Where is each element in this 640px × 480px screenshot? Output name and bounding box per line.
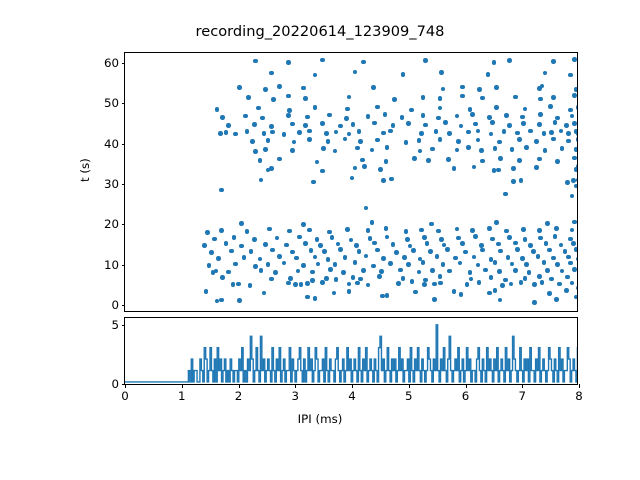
scatter-point — [321, 146, 326, 151]
scatter-point — [259, 268, 264, 273]
scatter-point — [269, 71, 274, 76]
scatter-point — [344, 116, 349, 121]
scatter-point — [301, 222, 306, 227]
scatter-point — [455, 227, 460, 232]
scatter-point — [423, 278, 428, 283]
scatter-point — [389, 177, 394, 182]
scatter-point — [425, 241, 430, 246]
scatter-point — [392, 97, 397, 102]
scatter-point — [383, 112, 388, 117]
scatter-point — [460, 94, 465, 99]
scatter-point — [492, 60, 497, 65]
scatter-point — [375, 138, 380, 143]
scatter-point — [422, 282, 427, 287]
scatter-point — [511, 179, 516, 184]
scatter-point — [497, 269, 502, 274]
scatter-point — [472, 255, 477, 260]
scatter-point — [232, 235, 237, 240]
scatter-point — [277, 157, 282, 162]
scatter-point — [315, 160, 320, 165]
scatter-point — [447, 131, 452, 136]
scatter-y-tick — [122, 265, 126, 266]
scatter-point — [362, 164, 367, 169]
scatter-point — [417, 138, 422, 143]
scatter-point — [555, 262, 560, 267]
scatter-point — [555, 116, 560, 121]
scatter-point — [231, 282, 236, 287]
scatter-point — [494, 220, 499, 225]
scatter-point — [489, 132, 494, 137]
scatter-point — [336, 242, 341, 247]
figure-title: recording_20220614_123909_748 — [0, 23, 640, 40]
scatter-point — [379, 269, 384, 274]
scatter-point — [479, 148, 484, 153]
scatter-point — [402, 255, 407, 260]
scatter-point — [490, 237, 495, 242]
scatter-point — [396, 281, 401, 286]
scatter-point — [459, 292, 464, 297]
scatter-point — [370, 220, 375, 225]
scatter-point — [269, 277, 274, 282]
scatter-point — [503, 192, 508, 197]
scatter-point — [316, 262, 321, 267]
histogram-x-tick — [522, 384, 523, 388]
scatter-point — [565, 180, 570, 185]
scatter-point — [353, 166, 358, 171]
scatter-point — [358, 139, 363, 144]
scatter-point — [459, 124, 464, 129]
scatter-point — [334, 277, 339, 282]
scatter-point — [572, 267, 577, 272]
scatter-point — [568, 108, 573, 113]
scatter-point — [576, 137, 577, 142]
scatter-y-tick — [122, 305, 126, 306]
scatter-point — [307, 228, 312, 233]
scatter-point — [571, 178, 576, 183]
histogram-x-tick-label: 0 — [121, 389, 129, 403]
scatter-point — [500, 283, 505, 288]
scatter-point — [293, 282, 298, 287]
scatter-point — [347, 95, 352, 100]
scatter-point — [470, 112, 475, 117]
scatter-point — [422, 235, 427, 240]
scatter-point — [534, 165, 539, 170]
scatter-point — [286, 60, 291, 65]
scatter-point — [536, 254, 541, 259]
scatter-point — [493, 288, 498, 293]
scatter-point — [385, 145, 390, 150]
scatter-point — [568, 237, 573, 242]
scatter-point — [385, 293, 390, 298]
scatter-point — [476, 263, 481, 268]
scatter-point — [294, 256, 299, 261]
scatter-point — [419, 131, 424, 136]
scatter-point — [438, 106, 443, 111]
scatter-point — [320, 121, 325, 126]
scatter-point — [487, 115, 492, 120]
scatter-point — [540, 280, 545, 285]
histogram-y-tick-label: 0 — [111, 377, 119, 391]
scatter-point — [559, 129, 564, 134]
scatter-point — [266, 262, 271, 267]
scatter-point — [219, 188, 224, 193]
scatter-point — [366, 283, 371, 288]
scatter-point — [456, 139, 461, 144]
scatter-point — [480, 159, 485, 164]
scatter-point — [460, 241, 465, 246]
scatter-point — [260, 116, 265, 121]
scatter-point — [286, 113, 291, 118]
scatter-point — [549, 130, 554, 135]
scatter-point — [361, 268, 366, 273]
scatter-point — [498, 249, 503, 254]
scatter-point — [560, 269, 565, 274]
scatter-point — [456, 236, 461, 241]
scatter-point — [343, 255, 348, 260]
scatter-point — [242, 255, 247, 260]
scatter-point — [277, 84, 282, 89]
scatter-point — [326, 139, 331, 144]
scatter-point — [452, 289, 457, 294]
scatter-point — [447, 269, 452, 274]
scatter-point — [554, 226, 559, 231]
scatter-point — [245, 229, 250, 234]
scatter-point — [523, 107, 528, 112]
scatter-point — [207, 263, 212, 268]
scatter-point — [507, 123, 512, 128]
scatter-point — [503, 278, 508, 283]
scatter-point — [468, 107, 473, 112]
scatter-point — [489, 275, 494, 280]
scatter-point — [538, 97, 543, 102]
scatter-point — [259, 178, 264, 183]
scatter-point — [202, 243, 207, 248]
scatter-point — [270, 248, 275, 253]
scatter-point — [523, 237, 528, 242]
scatter-point — [398, 268, 403, 273]
scatter-point — [277, 254, 282, 259]
scatter-point — [496, 242, 501, 247]
scatter-point — [542, 131, 547, 136]
scatter-point — [205, 230, 210, 235]
scatter-point — [391, 123, 396, 128]
scatter-point — [418, 149, 423, 154]
scatter-y-tick — [122, 144, 126, 145]
scatter-point — [528, 243, 533, 248]
scatter-point — [273, 270, 278, 275]
scatter-point — [534, 139, 539, 144]
scatter-point — [545, 221, 550, 226]
scatter-point — [574, 295, 577, 300]
scatter-point — [572, 220, 577, 225]
scatter-point — [315, 237, 320, 242]
histogram-x-tick — [295, 384, 296, 388]
scatter-point — [310, 270, 315, 275]
scatter-point — [303, 123, 308, 128]
scatter-y-axis-label: t (s) — [78, 158, 92, 182]
scatter-point — [239, 221, 244, 226]
scatter-point — [576, 257, 577, 262]
scatter-point — [226, 270, 231, 275]
histogram-x-tick-label: 6 — [462, 389, 470, 403]
scatter-point — [401, 276, 406, 281]
scatter-point — [267, 227, 272, 232]
scatter-point — [366, 228, 371, 233]
scatter-point — [436, 116, 441, 121]
histogram-x-tick — [409, 384, 410, 388]
scatter-point — [429, 222, 434, 227]
scatter-point — [417, 270, 422, 275]
scatter-point — [513, 268, 518, 273]
histogram-x-tick-label: 7 — [518, 389, 526, 403]
scatter-point — [404, 140, 409, 145]
scatter-point — [574, 247, 577, 252]
histogram-line-layer — [125, 318, 577, 384]
scatter-point — [520, 115, 525, 120]
scatter-point — [233, 132, 238, 137]
scatter-point — [327, 230, 332, 235]
scatter-point — [532, 300, 537, 305]
scatter-point — [513, 241, 518, 246]
scatter-point — [284, 243, 289, 248]
histogram-x-tick — [125, 384, 126, 388]
scatter-point — [204, 289, 209, 294]
histogram-x-tick-label: 2 — [235, 389, 243, 403]
scatter-point — [309, 248, 314, 253]
scatter-point — [218, 131, 223, 136]
scatter-point — [355, 281, 360, 286]
scatter-point — [463, 250, 468, 255]
scatter-point — [493, 260, 498, 265]
scatter-point — [357, 249, 362, 254]
scatter-point — [524, 262, 529, 267]
scatter-point — [504, 113, 509, 118]
scatter-point — [521, 227, 526, 232]
scatter-point — [553, 120, 558, 125]
scatter-point — [377, 274, 382, 279]
scatter-point — [224, 241, 229, 246]
scatter-point — [568, 261, 573, 266]
histogram-line-svg — [125, 318, 577, 384]
scatter-y-tick-label: 60 — [104, 56, 119, 70]
scatter-point — [286, 94, 291, 99]
scatter-point — [469, 277, 474, 282]
scatter-point — [351, 275, 356, 280]
scatter-point — [320, 169, 325, 174]
scatter-point — [507, 235, 512, 240]
scatter-point — [480, 96, 485, 101]
scatter-point — [438, 274, 443, 279]
scatter-point — [388, 129, 393, 134]
scatter-point — [263, 87, 268, 92]
scatter-point — [368, 236, 373, 241]
scatter-point — [494, 105, 499, 110]
scatter-point — [249, 249, 254, 254]
scatter-point — [262, 131, 267, 136]
scatter-point — [572, 57, 577, 62]
scatter-point — [326, 257, 331, 262]
scatter-point — [406, 262, 411, 267]
scatter-point — [219, 228, 224, 233]
scatter-point — [428, 249, 433, 254]
scatter-point — [531, 249, 536, 254]
scatter-point — [263, 242, 268, 247]
scatter-point — [507, 58, 512, 63]
histogram-x-tick — [182, 384, 183, 388]
scatter-point — [388, 261, 393, 266]
scatter-point — [224, 130, 229, 135]
scatter-point — [372, 241, 377, 246]
scatter-point — [490, 120, 495, 125]
scatter-point — [310, 278, 315, 283]
scatter-point — [378, 167, 383, 172]
scatter-point — [528, 129, 533, 134]
scatter-point — [517, 137, 522, 142]
scatter-point — [486, 72, 491, 77]
scatter-point — [411, 248, 416, 253]
scatter-point — [297, 130, 302, 135]
scatter-point — [446, 157, 451, 162]
scatter-point — [430, 268, 435, 273]
scatter-point — [243, 114, 248, 119]
scatter-point — [559, 243, 564, 248]
scatter-point — [357, 129, 362, 134]
scatter-point — [351, 122, 356, 127]
scatter-y-tick-label: 30 — [104, 177, 119, 191]
scatter-point — [381, 131, 386, 136]
scatter-point — [303, 241, 308, 246]
scatter-point — [493, 146, 498, 151]
scatter-point — [271, 97, 276, 102]
scatter-point — [458, 261, 463, 266]
scatter-point — [313, 255, 318, 260]
scatter-point — [288, 276, 293, 281]
scatter-point — [287, 229, 292, 234]
scatter-point — [565, 275, 570, 280]
histogram-y-tick — [122, 325, 126, 326]
scatter-point — [544, 241, 549, 246]
scatter-y-tick-label: 20 — [104, 217, 119, 231]
scatter-point — [572, 156, 577, 161]
scatter-point — [438, 137, 443, 142]
scatter-point — [372, 121, 377, 126]
scatter-point — [460, 85, 465, 90]
scatter-point — [354, 243, 359, 248]
histogram-x-tick-label: 3 — [291, 389, 299, 403]
scatter-point — [406, 121, 411, 126]
scatter-point — [421, 260, 426, 265]
scatter-point — [212, 237, 217, 242]
scatter-point — [301, 263, 306, 268]
scatter-y-tick-label: 0 — [111, 298, 119, 312]
scatter-point — [353, 70, 358, 75]
scatter-point — [455, 148, 460, 153]
scatter-point — [435, 254, 440, 259]
scatter-point — [441, 262, 446, 267]
scatter-point — [504, 229, 509, 234]
scatter-point — [345, 107, 350, 112]
scatter-point — [287, 108, 292, 113]
scatter-point — [349, 238, 354, 243]
scatter-point — [498, 298, 503, 303]
scatter-point — [553, 234, 558, 239]
scatter-point — [256, 106, 261, 111]
scatter-point — [509, 282, 514, 287]
scatter-point — [252, 122, 257, 127]
scatter-point — [519, 178, 524, 183]
histogram-x-tick — [579, 384, 580, 388]
scatter-point — [472, 165, 477, 170]
scatter-point — [253, 264, 258, 269]
scatter-point — [557, 282, 562, 287]
scatter-point — [419, 228, 424, 233]
scatter-point — [574, 147, 577, 152]
scatter-point — [366, 114, 371, 119]
scatter-point — [320, 58, 325, 63]
scatter-point — [455, 114, 460, 119]
scatter-y-tick — [122, 224, 126, 225]
scatter-point — [334, 130, 339, 135]
scatter-point — [220, 115, 225, 120]
scatter-point — [245, 129, 250, 134]
scatter-point — [269, 166, 274, 171]
scatter-point — [333, 149, 338, 154]
scatter-point — [510, 262, 515, 267]
scatter-point — [477, 87, 482, 92]
scatter-y-tick — [122, 184, 126, 185]
scatter-point-layer — [125, 53, 577, 311]
scatter-point — [262, 291, 267, 296]
scatter-point — [322, 249, 327, 254]
scatter-point — [258, 257, 263, 262]
scatter-point — [391, 242, 396, 247]
scatter-point — [532, 282, 537, 287]
scatter-point — [426, 158, 431, 163]
scatter-point — [538, 112, 543, 117]
scatter-point — [353, 260, 358, 265]
scatter-point — [252, 237, 257, 242]
scatter-point — [421, 95, 426, 100]
scatter-point — [209, 250, 214, 255]
scatter-point — [237, 298, 242, 303]
scatter-point — [570, 194, 575, 199]
scatter-point — [497, 140, 502, 145]
scatter-point — [333, 262, 338, 267]
histogram-x-tick — [239, 384, 240, 388]
scatter-point — [313, 296, 318, 301]
scatter-point — [423, 58, 428, 63]
scatter-point — [551, 137, 556, 142]
scatter-point — [375, 248, 380, 253]
scatter-point — [307, 137, 312, 142]
scatter-point — [551, 256, 556, 261]
scatter-point — [313, 73, 318, 78]
histogram-x-tick-label: 1 — [178, 389, 186, 403]
scatter-y-tick-label: 10 — [104, 258, 119, 272]
scatter-point — [258, 158, 263, 163]
scatter-point — [537, 122, 542, 127]
histogram-y-tick-label: 5 — [111, 318, 119, 332]
scatter-point — [496, 168, 501, 173]
scatter-point — [549, 277, 554, 282]
scatter-point — [343, 137, 348, 142]
scatter-point — [439, 237, 444, 242]
matplotlib-figure: recording_20220614_123909_748 t (s) 0102… — [0, 0, 640, 480]
scatter-point — [401, 72, 406, 77]
scatter-point — [548, 104, 553, 109]
scatter-point — [502, 129, 507, 134]
scatter-point — [347, 289, 352, 294]
